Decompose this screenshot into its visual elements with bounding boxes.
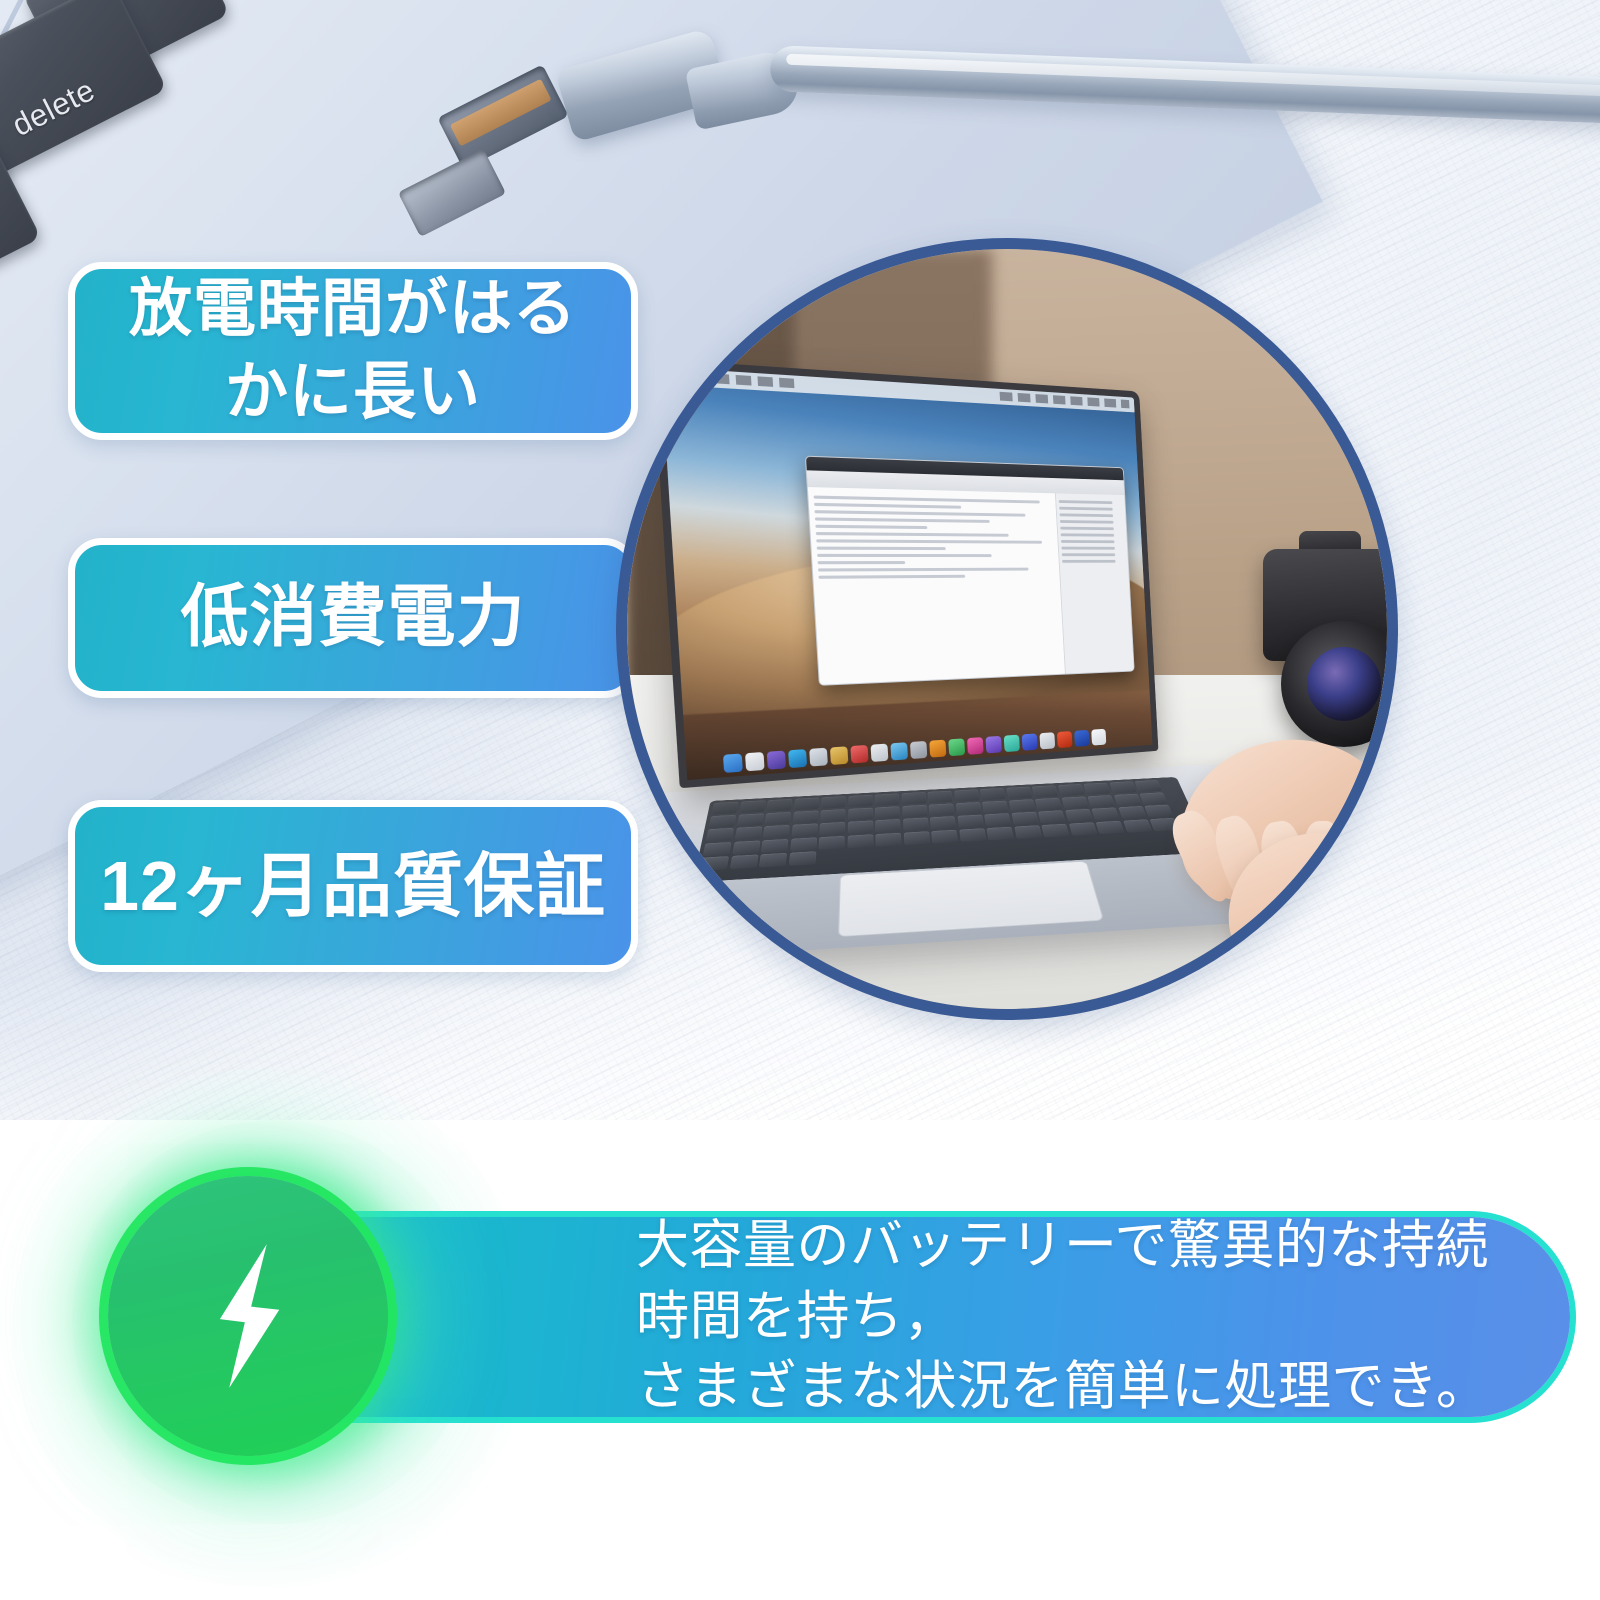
lightning-bolt-icon [188, 1241, 308, 1391]
laptop-side-ports [666, 835, 688, 857]
laptop-screen [652, 359, 1158, 789]
laptop-in-use-photo [616, 238, 1398, 1020]
feature-badge-label: 放電時間がはる かに長い [75, 268, 631, 434]
feature-badge-discharge-time: 放電時間がはる かに長い [68, 262, 638, 440]
feature-badge-label: 低消費電力 [162, 573, 543, 663]
feature-badge-warranty: 12ヶ月品質保証 [68, 800, 638, 972]
window-content-area [808, 487, 1065, 685]
laptop-trackpad [838, 861, 1104, 937]
highlight-banner: 大容量のバッテリーで驚異的な持続時間を持ち， さまざまな状況を簡単に処理でき。 [318, 1217, 1570, 1417]
app-window [805, 455, 1134, 685]
promo-graphic: ⏏ delete 放電時間がはる かに長い 低消費電力 12ヶ月品質保証 [0, 0, 1600, 1600]
lightning-bolt-badge [108, 1176, 388, 1456]
highlight-banner-text: 大容量のバッテリーで驚異的な持続時間を持ち， さまざまな状況を簡単に処理でき。 [636, 1211, 1530, 1422]
window-sidebar [1055, 493, 1134, 674]
feature-badge-label: 12ヶ月品質保証 [82, 840, 624, 932]
menu-bar-items [668, 371, 801, 389]
feature-badge-low-power: 低消費電力 [68, 538, 638, 698]
laptop-keyboard [693, 777, 1211, 882]
